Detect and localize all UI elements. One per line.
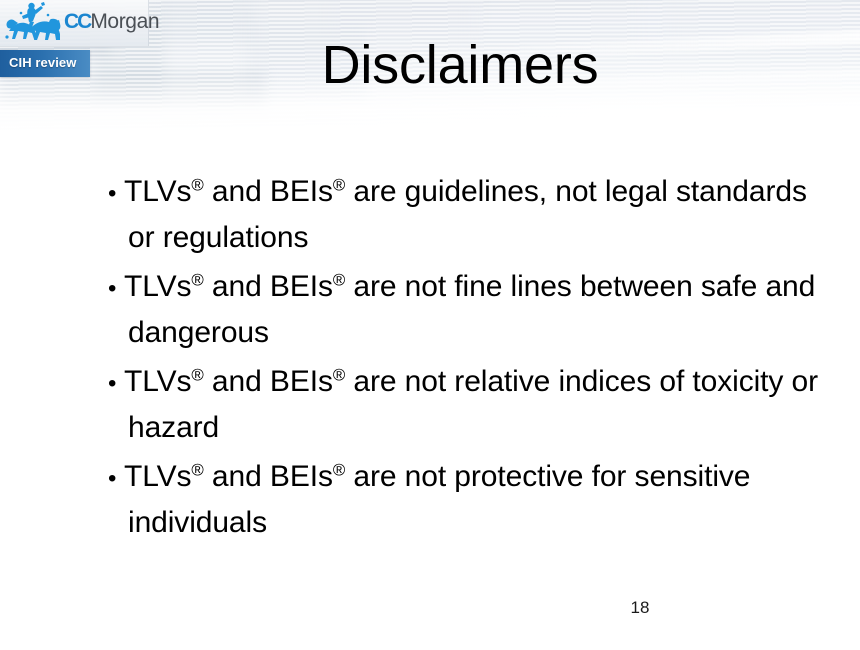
morgan-equestrian-logo-icon: [4, 1, 62, 45]
slide-page-number: 18: [612, 598, 668, 618]
registered-trademark-icon: ®: [191, 176, 203, 195]
registered-trademark-icon: ®: [333, 271, 345, 290]
bullet-text-lead: TLVs: [124, 175, 191, 208]
bullet-text-mid: and BEIs: [204, 460, 333, 493]
bullet-text-mid: and BEIs: [204, 365, 333, 398]
cih-review-badge: CIH review: [0, 50, 90, 77]
registered-trademark-icon: ®: [191, 271, 203, 290]
slide-title: Disclaimers: [170, 35, 750, 95]
bullet-item: • TLVs® and BEIs® are not fine lines bet…: [108, 265, 828, 355]
bullet-item: • TLVs® and BEIs® are not relative indic…: [108, 360, 828, 450]
bullet-marker: •: [108, 275, 116, 302]
bullet-text-mid: and BEIs: [204, 270, 333, 303]
registered-trademark-icon: ®: [333, 461, 345, 480]
brand-logo-plate: CCMorgan: [0, 0, 149, 47]
slide-body-bullet-list: • TLVs® and BEIs® are guidelines, not le…: [108, 170, 828, 550]
registered-trademark-icon: ®: [191, 366, 203, 385]
cih-review-badge-label: CIH review: [9, 55, 76, 70]
bullet-item: • TLVs® and BEIs® are guidelines, not le…: [108, 170, 828, 260]
registered-trademark-icon: ®: [191, 461, 203, 480]
bullet-text-lead: TLVs: [124, 270, 191, 303]
presentation-slide: CCMorgan CIH review Disclaimers • TLVs® …: [0, 0, 860, 650]
bullet-text-lead: TLVs: [124, 365, 191, 398]
bullet-marker: •: [108, 370, 116, 397]
bullet-text-lead: TLVs: [124, 460, 191, 493]
bullet-text-mid: and BEIs: [204, 175, 333, 208]
brand-wordmark-name: Morgan: [90, 10, 159, 33]
registered-trademark-icon: ®: [333, 176, 345, 195]
registered-trademark-icon: ®: [333, 366, 345, 385]
bullet-marker: •: [108, 465, 116, 492]
bullet-marker: •: [108, 180, 116, 207]
brand-wordmark: CCMorgan: [64, 11, 159, 32]
bullet-item: • TLVs® and BEIs® are not protective for…: [108, 455, 828, 545]
brand-wordmark-cc: CC: [64, 10, 90, 33]
